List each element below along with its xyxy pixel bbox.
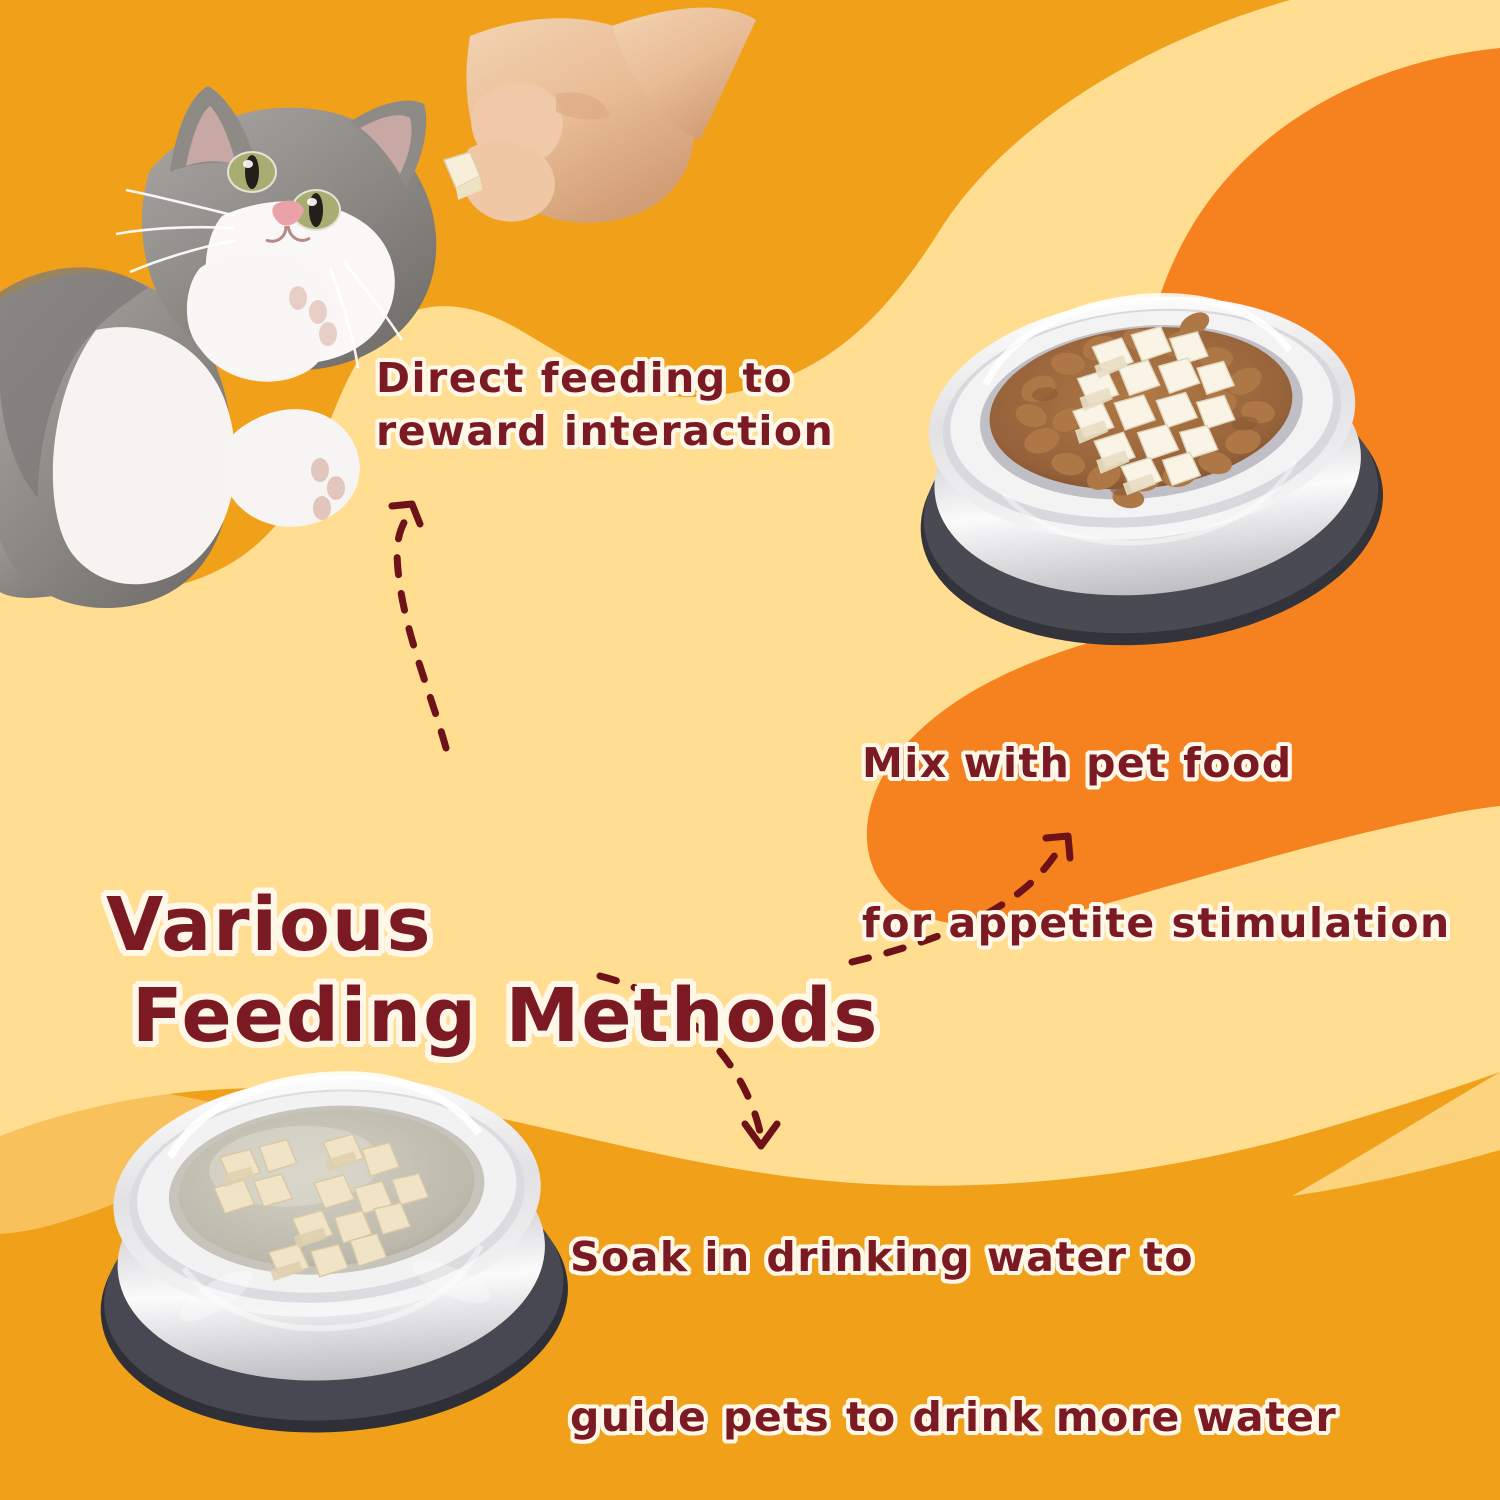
caption-mix-line-1: Mix with pet food [862,739,1293,787]
caption-mix-with-pet-food: Mix with pet food for appetite stimulati… [862,684,1451,950]
page-title: Various Feeding Methods [106,790,879,1151]
page-title-line-2: Feeding Methods [106,971,879,1061]
caption-soak-in-drinking-water: Soak in drinking water to guide pets to … [570,1178,1337,1444]
page-title-line-1: Various [106,882,433,968]
caption-mix-line-2: for appetite stimulation [862,899,1451,947]
caption-soak-line-2: guide pets to drink more water [570,1393,1337,1441]
caption-direct-feeding: Direct feeding toreward interaction [376,352,834,459]
caption-direct-line-2: reward interaction [376,407,834,455]
caption-direct-line-1: Direct feeding to [376,354,793,402]
caption-soak-line-1: Soak in drinking water to [570,1233,1194,1281]
infographic-canvas: Direct feeding toreward interaction Vari… [0,0,1500,1500]
